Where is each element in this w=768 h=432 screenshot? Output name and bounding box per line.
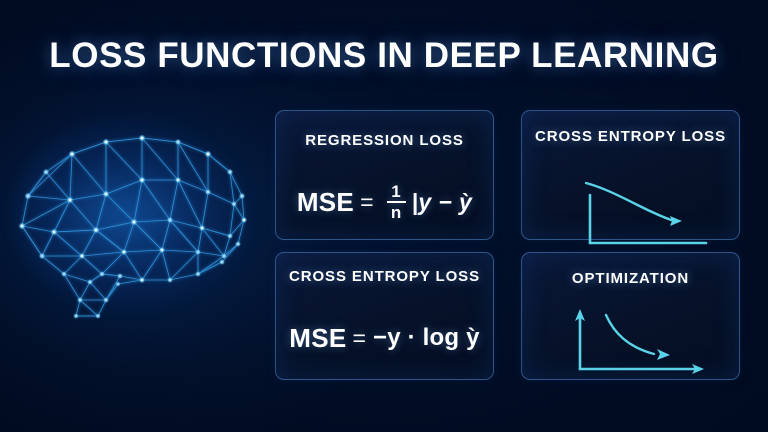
- slide-canvas: LOSS FUNCTIONS IN DEEP LEARNING: [0, 0, 768, 432]
- optimization-curve-chart-icon: [550, 303, 720, 379]
- formula-expression: −y · log ỳ: [373, 324, 480, 352]
- page-title: LOSS FUNCTIONS IN DEEP LEARNING: [0, 36, 768, 76]
- formula-lhs: MSE: [289, 323, 346, 354]
- formula-equals: =: [353, 325, 366, 352]
- formula-lhs: MSE: [297, 187, 354, 218]
- formula-regression-loss: MSE = 1 n |y − ỳ: [276, 179, 493, 225]
- card-optimization[interactable]: OPTIMIZATION: [521, 252, 740, 380]
- fraction-numerator: 1: [388, 183, 403, 200]
- formula-fraction: 1 n: [387, 183, 406, 222]
- formula-equals: =: [360, 189, 373, 216]
- brain-illustration: [2, 104, 266, 326]
- card-title: CROSS ENTROPY LOSS: [276, 267, 493, 286]
- formula-cross-entropy-loss: MSE = −y · log ỳ: [276, 315, 493, 361]
- formula-expression: |y − ỳ: [412, 189, 473, 216]
- card-cross-entropy-loss-formula[interactable]: CROSS ENTROPY LOSS MSE = −y · log ỳ: [275, 252, 494, 380]
- curve-arrowhead: [657, 349, 670, 360]
- card-title: REGRESSION LOSS: [276, 131, 493, 150]
- card-regression-loss[interactable]: REGRESSION LOSS MSE = 1 n |y − ỳ: [275, 110, 494, 240]
- brain-wireframe-icon: [2, 104, 266, 326]
- decay-curve-chart-icon: [578, 173, 718, 255]
- card-title: OPTIMIZATION: [522, 269, 739, 288]
- card-title: CROSS ENTROPY LOSS: [522, 127, 739, 146]
- fraction-denominator: n: [388, 204, 404, 221]
- card-cross-entropy-loss-chart[interactable]: CROSS ENTROPY LOSS: [521, 110, 740, 240]
